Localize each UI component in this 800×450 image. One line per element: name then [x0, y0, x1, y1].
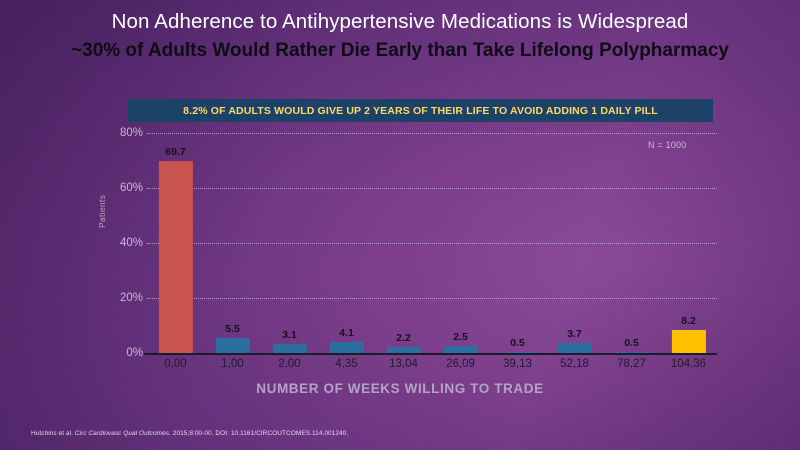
bar[interactable]: [671, 330, 705, 353]
bar-value-label: 2.2: [396, 332, 411, 344]
bar-slot[interactable]: 69.7: [147, 133, 204, 353]
x-axis-tick: 2,00: [278, 358, 300, 370]
sample-size-annotation: N = 1000: [648, 140, 686, 150]
y-axis-tick: 60%: [101, 182, 143, 194]
bar-slot[interactable]: 4.1: [318, 133, 375, 353]
bar-value-label: 0.5: [510, 337, 525, 349]
x-axis-tick: 0,00: [164, 358, 186, 370]
y-axis-tick: 80%: [101, 127, 143, 139]
bar-slot[interactable]: 2.5: [432, 133, 489, 353]
y-axis-tick: 0%: [101, 347, 143, 359]
x-axis-title: NUMBER OF WEEKS WILLING TO TRADE: [0, 381, 800, 396]
callout-banner: 8.2% OF ADULTS WOULD GIVE UP 2 YEARS OF …: [128, 99, 713, 122]
bar-value-label: 8.2: [681, 315, 696, 327]
bar[interactable]: [329, 342, 363, 353]
citation-footnote: Hutchins et al. Circ Cardiovasc Qual Out…: [31, 430, 348, 437]
x-axis-tick: 39,13: [503, 358, 532, 370]
y-axis-tick: 20%: [101, 292, 143, 304]
callout-banner-text: 8.2% OF ADULTS WOULD GIVE UP 2 YEARS OF …: [183, 105, 658, 117]
citation-prefix: Hutchins et al.: [31, 430, 75, 437]
x-axis-tick: 1,00: [221, 358, 243, 370]
bar-slot[interactable]: 2.2: [375, 133, 432, 353]
bar-slot[interactable]: 0.5: [603, 133, 660, 353]
y-axis-tick-labels: 0%20%40%60%80%: [97, 133, 143, 353]
bar-slot[interactable]: 0.5: [489, 133, 546, 353]
bar-chart: Patients 0%20%40%60%80% 69.75.53.14.12.2…: [0, 0, 800, 450]
x-axis-tick: 26,09: [446, 358, 475, 370]
x-axis-tick: 52,18: [560, 358, 589, 370]
page-title: Non Adherence to Antihypertensive Medica…: [0, 8, 800, 36]
bar-slot[interactable]: 5.5: [204, 133, 261, 353]
slide-canvas: Non Adherence to Antihypertensive Medica…: [0, 0, 800, 450]
bar-value-label: 69.7: [165, 146, 185, 158]
bar-slot[interactable]: 3.7: [546, 133, 603, 353]
plot-area: 69.75.53.14.12.22.50.53.70.58.2: [147, 133, 717, 353]
bar[interactable]: [272, 344, 306, 353]
bar-value-label: 5.5: [225, 323, 240, 335]
x-axis-tick: 78,27: [617, 358, 646, 370]
bar-slot[interactable]: 8.2: [660, 133, 717, 353]
bar-value-label: 3.7: [567, 328, 582, 340]
bar-value-label: 4.1: [339, 327, 354, 339]
x-axis-tick: 104,36: [671, 358, 706, 370]
bar-value-label: 2.5: [453, 331, 468, 343]
bar-series: 69.75.53.14.12.22.50.53.70.58.2: [147, 133, 717, 353]
bar[interactable]: [557, 343, 591, 353]
x-axis-tick-labels: 0,001,002,004,3513,0426,0939,1352,1878,2…: [147, 358, 717, 378]
citation-suffix: . 2015;8:00-00. DOI: 10.1161/CIRCOUTCOME…: [169, 430, 348, 437]
x-axis-tick: 4,35: [335, 358, 357, 370]
bar-slot[interactable]: 3.1: [261, 133, 318, 353]
y-axis-tick: 40%: [101, 237, 143, 249]
bar[interactable]: [443, 346, 477, 353]
bar[interactable]: [215, 338, 249, 353]
bar-value-label: 0.5: [624, 337, 639, 349]
x-axis-line: [144, 353, 717, 355]
citation-journal: Circ Cardiovasc Qual Outcomes: [75, 430, 169, 437]
bar[interactable]: [158, 161, 192, 353]
bar-value-label: 3.1: [282, 329, 297, 341]
page-subtitle: ~30% of Adults Would Rather Die Early th…: [0, 38, 800, 64]
title-block: Non Adherence to Antihypertensive Medica…: [0, 8, 800, 63]
x-axis-tick: 13,04: [389, 358, 418, 370]
